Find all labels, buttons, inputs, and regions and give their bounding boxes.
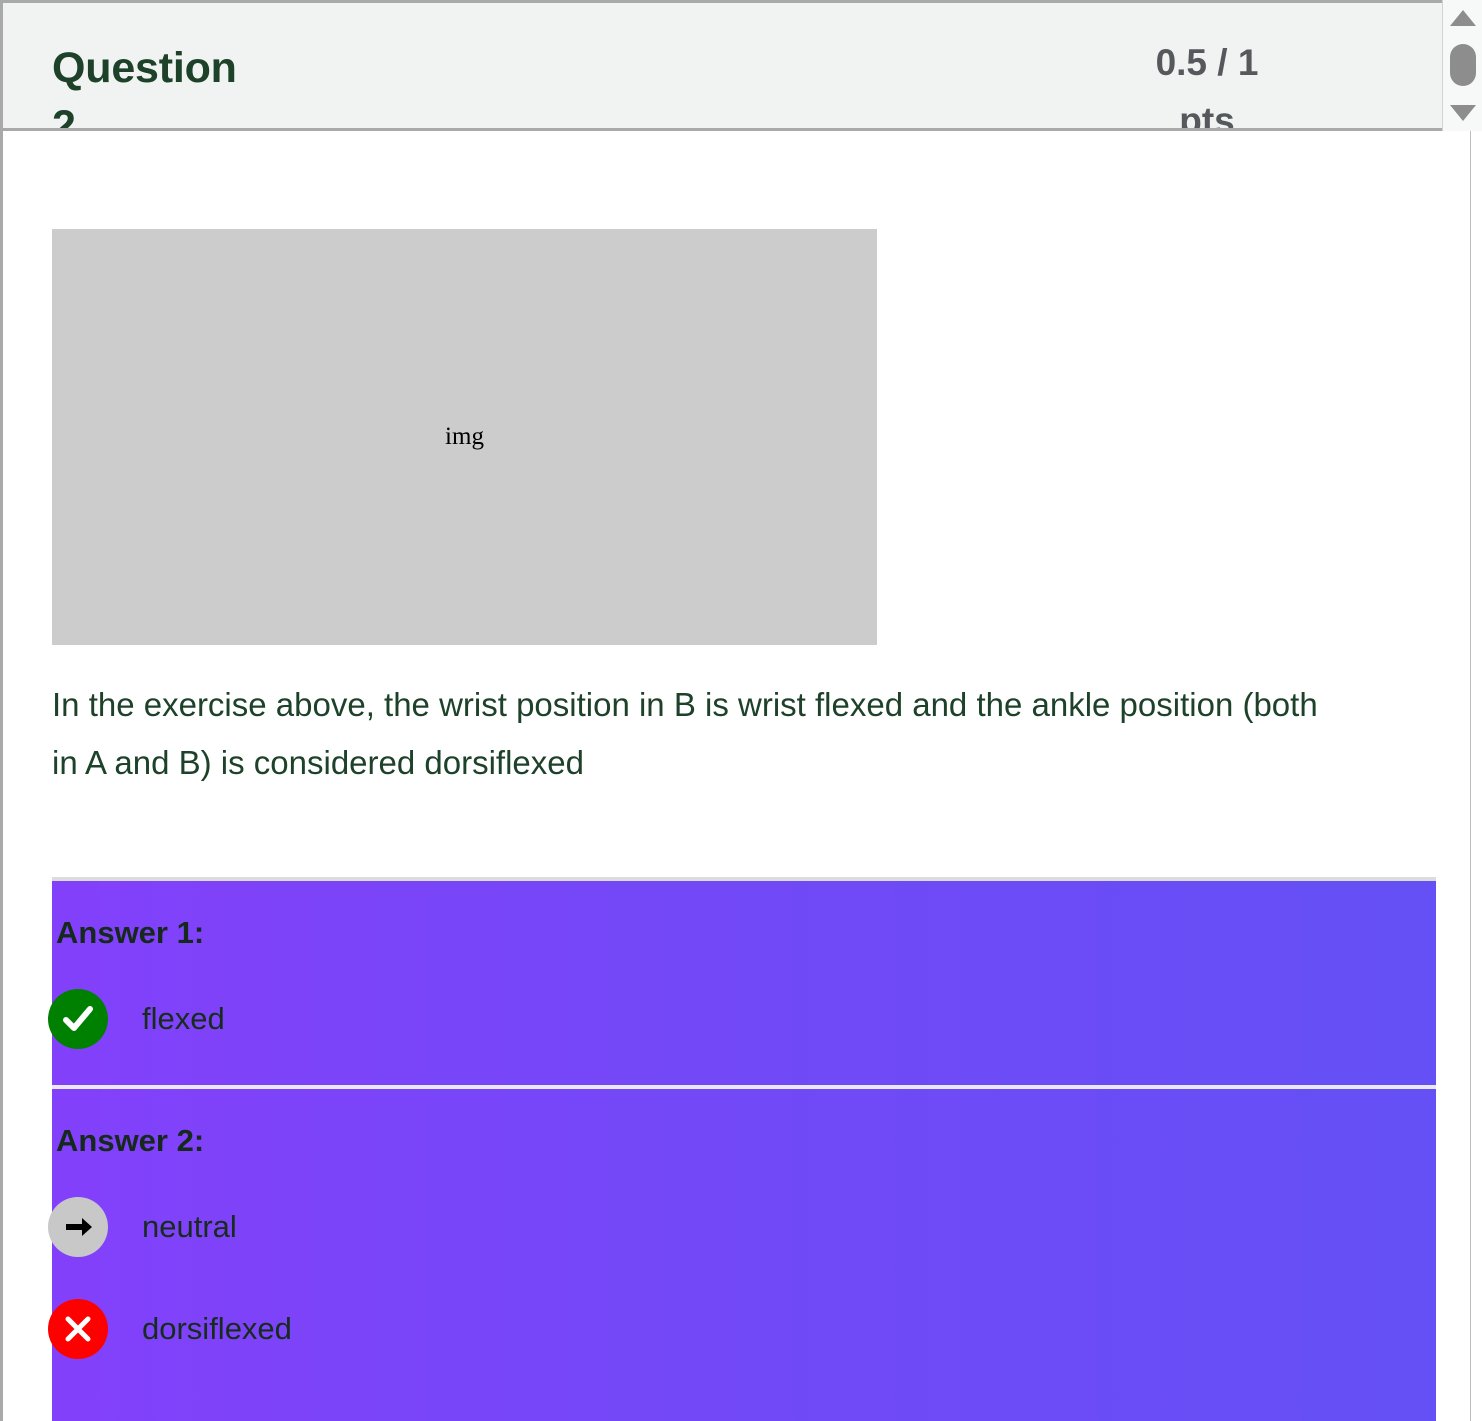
answer-option-row[interactable]: flexed [52, 977, 1436, 1061]
scrollbar-thumb[interactable] [1450, 44, 1476, 86]
x-circle-icon [48, 1299, 108, 1359]
triangle-up-icon[interactable] [1450, 10, 1476, 26]
question-image-placeholder: img [52, 229, 877, 645]
answer-option-row[interactable]: dorsiflexed [52, 1287, 1436, 1371]
answer-option-row[interactable]: neutral [52, 1185, 1436, 1269]
question-statement: In the exercise above, the wrist positio… [52, 676, 1342, 792]
vertical-scrollbar[interactable] [1442, 0, 1482, 131]
answer-group-2: Answer 2: neutral [52, 1085, 1436, 1421]
answer-2-label: Answer 2: [52, 1089, 1436, 1159]
content-scroll-gutter [1470, 131, 1482, 1421]
answer-1-label: Answer 1: [52, 881, 1436, 951]
answers-panel: Answer 1: flexed Answer 2: [52, 877, 1436, 1421]
image-placeholder-label: img [445, 423, 484, 451]
answer-group-1: Answer 1: flexed [52, 881, 1436, 1085]
arrow-right-circle-icon [48, 1197, 108, 1257]
quiz-question-view: Question 2 0.5 / 1 pts img In the exerci… [0, 0, 1482, 1421]
answer-option-label: neutral [142, 1209, 237, 1245]
question-header-content: Question 2 0.5 / 1 pts [3, 3, 1437, 131]
triangle-down-icon[interactable] [1450, 105, 1476, 121]
answer-option-label: flexed [142, 1001, 225, 1037]
check-circle-icon [48, 989, 108, 1049]
question-title: Question 2 [52, 39, 237, 131]
answer-option-label: dorsiflexed [142, 1311, 292, 1347]
question-body: img In the exercise above, the wrist pos… [0, 131, 1482, 1421]
question-header: Question 2 0.5 / 1 pts [0, 0, 1482, 131]
question-points: 0.5 / 1 pts [1097, 34, 1317, 131]
